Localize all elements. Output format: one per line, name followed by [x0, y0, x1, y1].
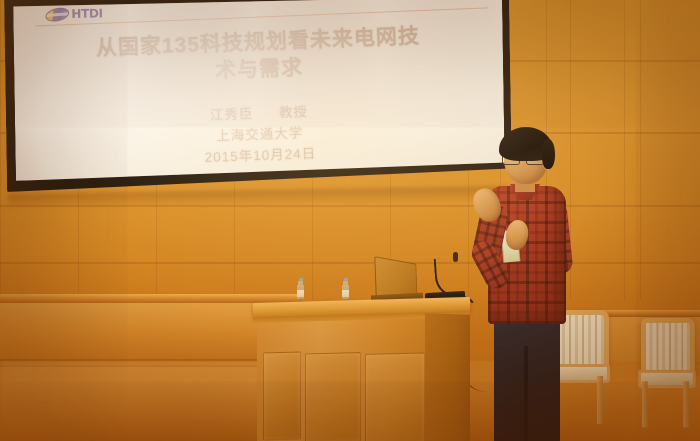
slide-title: 从国家135科技规划看未来电网技 术与需求 — [27, 21, 490, 92]
slide-logo: HTDI — [45, 7, 103, 21]
chair-back — [641, 318, 695, 378]
wooden-lectern — [255, 300, 470, 441]
screen-surface: HTDI 从国家135科技规划看未来电网技 术与需求 江秀臣 教授 上海交通大学 — [13, 0, 505, 181]
slide-presenter-title: 教授 — [279, 104, 309, 120]
presentation-slide: HTDI 从国家135科技规划看未来电网技 术与需求 江秀臣 教授 上海交通大学 — [13, 0, 505, 181]
presentation-photo-scene: HTDI 从国家135科技规划看未来电网技 术与需求 江秀臣 教授 上海交通大学 — [0, 0, 700, 441]
lectern-panel — [263, 352, 301, 441]
htdi-oval-swoosh-logo-icon — [44, 6, 70, 24]
projection-screen: HTDI 从国家135科技规划看未来电网技 术与需求 江秀臣 教授 上海交通大学 — [4, 0, 512, 192]
bottle-label — [342, 290, 349, 297]
chair-leg — [683, 381, 689, 427]
presenter-standing — [470, 120, 600, 441]
presenter-hair — [499, 127, 553, 161]
presenter-trousers — [494, 318, 560, 441]
gooseneck-microphone — [431, 252, 465, 302]
chair-leg — [642, 381, 648, 427]
laptop — [375, 260, 421, 302]
floor-reflection — [0, 363, 270, 441]
logo-text: HTDI — [71, 8, 103, 19]
lectern-side — [425, 313, 470, 441]
slide-presenter-name: 江秀臣 — [210, 106, 254, 123]
bottle-label — [297, 290, 304, 297]
slide-subtitle-block: 江秀臣 教授 上海交通大学 2015年10月24日 — [28, 95, 491, 175]
spacer — [258, 117, 274, 118]
lectern-panel — [365, 352, 425, 441]
lectern-panel — [305, 352, 361, 441]
